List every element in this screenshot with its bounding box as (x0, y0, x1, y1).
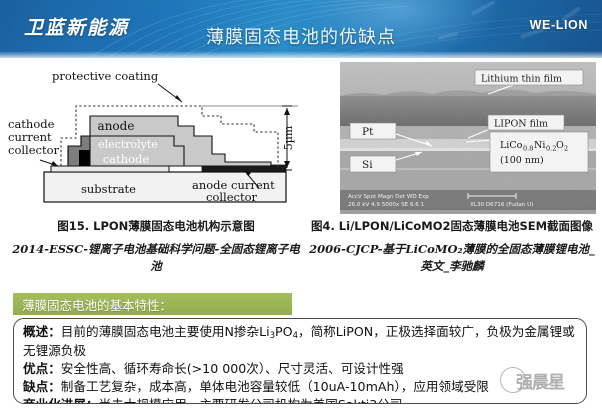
caption-right-sub: 2006-CJCP-基于LiCoMO₂薄膜的全固态薄膜锂电池_英文_李驰麟 (306, 241, 598, 274)
info-row-disadvantages: 缺点：制备工艺复杂，成本高，单体电池容量较低（10uA-10mAh），应用领域受… (23, 378, 578, 396)
label-cathode-material: LiCo (500, 140, 523, 151)
svg-text:collector: collector (206, 190, 258, 204)
svg-text:2: 2 (564, 145, 568, 153)
caption-left-main: 图15. LPON薄膜固态电池机构示意图 (8, 218, 304, 235)
label-scale-5um: 5µm (282, 125, 295, 150)
sem-meta-top: AccV Spot Magn Det WD Exp (348, 194, 429, 200)
figure-lipon-schematic: protective coating cathode current colle… (6, 62, 298, 214)
figure-sem-cross-section: Lithium thin film LIPON film Pt Si LiCo … (340, 62, 596, 214)
info-label-overview: 概述 (23, 324, 48, 339)
info-text-overview-a: 目前的薄膜固态电池主要使用N掺杂Li (61, 324, 270, 339)
label-anode: anode (98, 119, 135, 133)
svg-text:O: O (556, 140, 564, 151)
label-lipon-film: LIPON film (494, 119, 548, 130)
svg-text:current: current (8, 130, 52, 144)
section-header-label: 薄膜固态电池的基本特性： (13, 295, 172, 314)
info-sep-1: ： (48, 361, 61, 376)
label-electrolyte: electrolyte (98, 138, 158, 151)
caption-block-left: 图15. LPON薄膜固态电池机构示意图 2014-ESSC-锂离子电池基础科学… (8, 218, 304, 275)
banner-fade (0, 51, 602, 58)
sem-svg: Lithium thin film LIPON film Pt Si LiCo … (340, 62, 596, 214)
info-text-disadvantages: 制备工艺复杂，成本高，单体电池容量较低（10uA-10mAh），应用领域受限 (61, 379, 489, 394)
label-si: Si (362, 159, 373, 171)
label-protective-coating: protective coating (52, 69, 159, 83)
info-sep-3: ： (86, 397, 99, 404)
label-cathode-thickness: (100 nm) (500, 155, 544, 166)
svg-text:0.2: 0.2 (546, 145, 556, 153)
sem-meta-right: XL30 D6716 (Fudan U) (470, 202, 533, 208)
label-lithium-thin-film: Lithium thin film (481, 74, 562, 85)
schematic-svg: protective coating cathode current colle… (6, 62, 298, 214)
info-sep-0: ： (48, 324, 61, 339)
caption-left-sub: 2014-ESSC-锂离子电池基础科学问题-全固态锂离子电池 (8, 241, 304, 274)
slide-header-banner: 卫蓝新能源 薄膜固态电池的优缺点 WE-LION (0, 0, 602, 58)
svg-text:collector: collector (8, 143, 60, 157)
info-row-overview: 概述：目前的薄膜固态电池主要使用N掺杂Li3PO4，简称LiPON，正极选择面较… (23, 323, 578, 360)
label-cathode: cathode (103, 152, 150, 166)
caption-block-right: 图4. Li/LPON/LiCoMO2固态薄膜电池SEM截面图像 2006-CJ… (306, 218, 598, 275)
section-header-bar: 薄膜固态电池的基本特性： (13, 293, 292, 315)
info-text-commercialization: 尚未大规模应用，主要研发公司机构为美国Sakti3公司 (99, 397, 403, 404)
info-text-advantages: 安全性高、循环寿命长(>10 000次）、尺寸灵活、可设计性强 (61, 361, 404, 376)
caption-right-main: 图4. Li/LPON/LiCoMO2固态薄膜电池SEM截面图像 (306, 218, 598, 235)
info-row-advantages: 优点：安全性高、循环寿命长(>10 000次）、尺寸灵活、可设计性强 (23, 360, 578, 378)
label-substrate: substrate (81, 182, 136, 196)
label-pt: Pt (362, 126, 374, 138)
svg-text:0.8: 0.8 (523, 145, 533, 153)
sem-meta-bottom: 26.0 kV 4.9 5000x SE 6.6 1 (348, 202, 425, 208)
info-sep-2: ： (48, 379, 61, 394)
info-label-advantages: 优点 (23, 361, 48, 376)
info-label-disadvantages: 缺点 (23, 379, 48, 394)
svg-text:Ni: Ni (534, 140, 545, 151)
page-title: 薄膜固态电池的优缺点 (0, 23, 602, 49)
company-logo-english: WE-LION (530, 18, 588, 32)
info-text-overview-b: PO (275, 324, 293, 339)
info-row-commercialization: 商业化进展：尚未大规模应用，主要研发公司机构为美国Sakti3公司 (23, 396, 578, 404)
label-cathode-current-collector: cathode (8, 117, 55, 131)
characteristics-info-box: 概述：目前的薄膜固态电池主要使用N掺杂Li3PO4，简称LiPON，正极选择面较… (13, 318, 587, 404)
info-label-commercialization: 商业化进展 (23, 397, 86, 404)
